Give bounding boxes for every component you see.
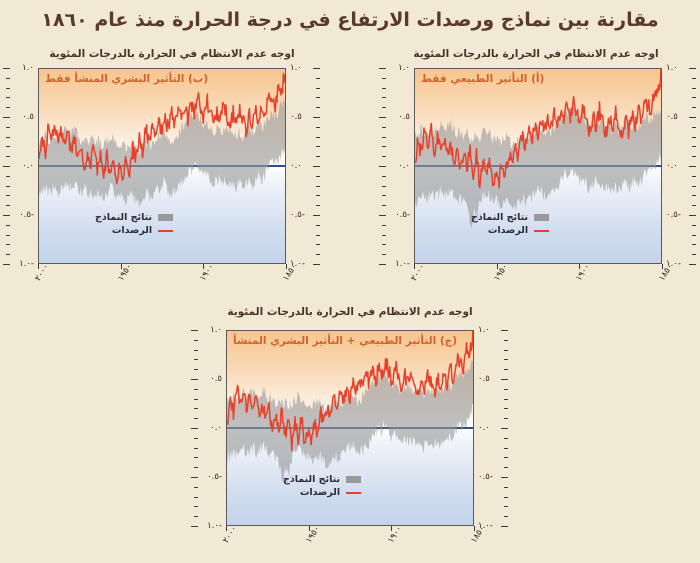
y-tick-label: ٠.٥ [290,112,302,122]
x-tick-label: ٢٠٠٠ [33,262,51,283]
y-tick-label: ٠.٠ [398,161,410,171]
x-tick-label: ٢٠٠٠ [409,262,427,283]
observations-swatch-icon [346,492,361,494]
plot-area-b: (ب) التأثير البشري المنشأ فقط نتائج النم… [38,68,286,264]
subtitle-panel-b: اوجه عدم الانتظام في الحرارة بالدرجات ال… [22,48,322,60]
legend-row-observations: الرصدات [95,224,173,237]
y-tick-label: -٠.٥ [395,210,410,220]
legend-label-observations: الرصدات [488,224,528,237]
legend-label-models: نتائج النماذج [471,211,528,224]
plot-area-a: (أ) التأثير الطبيعي فقط نتائج النماذج ال… [414,68,662,264]
observations-swatch-icon [534,230,549,232]
legend-b: نتائج النماذج الرصدات [95,211,173,237]
y-tick-marks-a [380,68,386,264]
models-swatch-icon [534,214,549,221]
y-tick-marks-a [690,68,696,264]
x-tick-label: ٢٠٠٠ [221,524,239,545]
y-tick-label: ٠.٠ [210,423,222,433]
y-tick-label: ٠.٥ [666,112,678,122]
y-tick-label: ٠.٠ [666,161,678,171]
y-tick-label: -٠.٥ [666,210,681,220]
x-axis-a: ١٨٥٠١٩٠٠١٩٥٠٢٠٠٠ [414,268,662,294]
y-tick-label: ١.٠ [210,325,222,335]
legend-label-observations: الرصدات [300,486,340,499]
y-tick-label: -١.٠ [19,259,34,269]
page-title: مقارنة بين نماذج ورصدات الارتفاع في درجة… [0,9,700,31]
subtitle-panel-c: اوجه عدم الانتظام في الحرارة بالدرجات ال… [200,306,500,318]
legend-row-models: نتائج النماذج [283,473,361,486]
subtitle-panel-a: اوجه عدم الانتظام في الحرارة بالدرجات ال… [386,48,686,60]
legend-row-observations: الرصدات [471,224,549,237]
legend-row-observations: الرصدات [283,486,361,499]
legend-a: نتائج النماذج الرصدات [471,211,549,237]
legend-c: نتائج النماذج الرصدات [283,473,361,499]
y-tick-label: ١.٠ [398,63,410,73]
y-tick-label: ١.٠ [290,63,302,73]
y-tick-label: ٠.٥ [22,112,34,122]
y-tick-label: ٠.٥ [478,374,490,384]
chart-panel-c: (ج) التأثير الطبيعي + التأثير البشري الم… [226,330,474,526]
y-tick-marks-b [314,68,320,264]
models-swatch-icon [346,476,361,483]
x-axis-c: ١٨٥٠١٩٠٠١٩٥٠٢٠٠٠ [226,530,474,556]
y-tick-label: -٠.٥ [478,472,493,482]
plot-area-c: (ج) التأثير الطبيعي + التأثير البشري الم… [226,330,474,526]
y-tick-label: ٠.٥ [210,374,222,384]
y-tick-label: ٠.٠ [478,423,490,433]
legend-label-models: نتائج النماذج [283,473,340,486]
y-tick-label: ٠.٠ [290,161,302,171]
figure-root: مقارنة بين نماذج ورصدات الارتفاع في درجة… [0,0,700,563]
chart-panel-b: (ب) التأثير البشري المنشأ فقط نتائج النم… [38,68,286,264]
legend-row-models: نتائج النماذج [471,211,549,224]
x-axis-b: ١٨٥٠١٩٠٠١٩٥٠٢٠٠٠ [38,268,286,294]
y-tick-marks-b [4,68,10,264]
y-tick-label: -٠.٥ [207,472,222,482]
chart-panel-a: (أ) التأثير الطبيعي فقط نتائج النماذج ال… [414,68,662,264]
y-tick-label: -١.٠ [395,259,410,269]
y-tick-marks-c [502,330,508,526]
y-tick-label: ١.٠ [666,63,678,73]
y-tick-label: -١.٠ [207,521,222,531]
y-tick-marks-c [192,330,198,526]
y-tick-label: -٠.٥ [19,210,34,220]
y-tick-label: ١.٠ [478,325,490,335]
y-tick-label: ١.٠ [22,63,34,73]
models-swatch-icon [158,214,173,221]
legend-row-models: نتائج النماذج [95,211,173,224]
legend-label-observations: الرصدات [112,224,152,237]
y-tick-label: ٠.٠ [22,161,34,171]
model-spread-band [415,106,661,228]
y-tick-label: -٠.٥ [290,210,305,220]
observations-swatch-icon [158,230,173,232]
y-tick-label: ٠.٥ [398,112,410,122]
legend-label-models: نتائج النماذج [95,211,152,224]
